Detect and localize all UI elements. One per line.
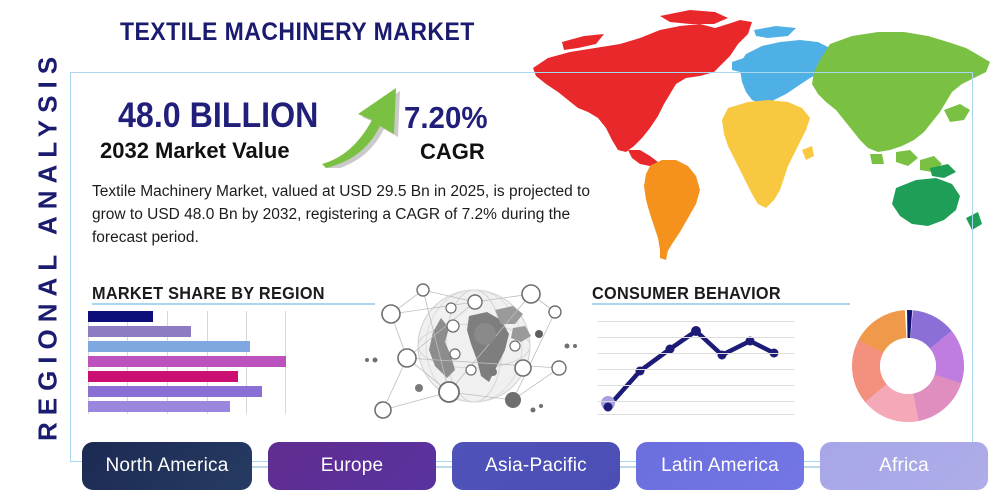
consumer-behavior-heading: CONSUMER BEHAVIOR [592, 283, 781, 304]
region-pill-label: North America [106, 455, 229, 477]
region-pill-north-america[interactable]: North America [82, 442, 252, 490]
description-text: Textile Machinery Market, valued at USD … [92, 180, 592, 249]
consumer-behavior-line-chart [598, 313, 794, 415]
infographic-root: REGIONAL ANALYSIS TEXTILE MACHINERY MARK… [0, 0, 1000, 500]
cagr-label: CAGR [420, 139, 485, 165]
market-value-label: 2032 Market Value [100, 138, 290, 164]
market-value-number: 48.0 BILLION [118, 96, 318, 136]
region-pill-europe[interactable]: Europe [268, 442, 436, 490]
region-pill-label: Asia-Pacific [485, 455, 587, 477]
bar-row [88, 356, 286, 367]
page-title: TEXTILE MACHINERY MARKET [120, 18, 475, 47]
global-network-icon [363, 272, 585, 422]
bar-row [88, 386, 262, 397]
region-pill-latin-america[interactable]: Latin America [636, 442, 804, 490]
cagr-number: 7.20% [404, 100, 488, 136]
consumer-behavior-rule [592, 303, 850, 305]
segment-donut-chart [852, 310, 964, 422]
side-vertical-title: REGIONAL ANALYSIS [33, 46, 64, 446]
bar-row [88, 311, 153, 322]
region-pill-label: Europe [321, 455, 383, 477]
bar-row [88, 326, 191, 337]
line-chart-gridlines [598, 313, 794, 415]
region-pill-label: Africa [879, 455, 929, 477]
market-share-bar-chart [88, 311, 286, 414]
region-pill-africa[interactable]: Africa [820, 442, 988, 490]
region-pill-asia-pacific[interactable]: Asia-Pacific [452, 442, 620, 490]
region-pill-label: Latin America [661, 455, 779, 477]
bar-row [88, 401, 230, 412]
global-network-svg [363, 272, 585, 422]
market-share-heading: MARKET SHARE BY REGION [92, 283, 325, 304]
bar-row [88, 371, 238, 382]
bar-row [88, 341, 250, 352]
market-share-rule [92, 303, 375, 305]
growth-arrow-svg [318, 84, 404, 168]
donut-chart-svg [852, 310, 964, 422]
growth-arrow-icon [318, 84, 404, 168]
